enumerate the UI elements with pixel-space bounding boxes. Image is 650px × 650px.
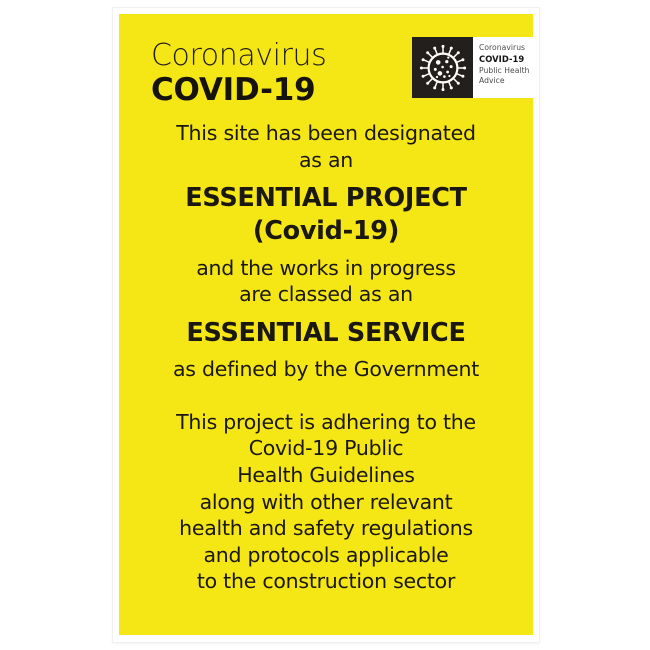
- coronavirus-virus-icon: [418, 43, 468, 93]
- body-line-essential-service: ESSENTIAL SERVICE: [119, 317, 533, 350]
- wordmark-covid19-text: COVID-19: [151, 73, 326, 107]
- body-line-covid19-parenthetical: (Covid-19): [119, 215, 533, 248]
- spacer: [119, 308, 533, 317]
- text-block-essential-project: ESSENTIAL PROJECT (Covid-19): [119, 182, 533, 248]
- screenshot-canvas: Coronavirus COVID-19: [0, 0, 650, 650]
- coronavirus-covid19-wordmark: Coronavirus COVID-19: [151, 40, 326, 107]
- logo-line-public-health: Public Health: [479, 66, 529, 77]
- body-line-adherence-5: health and safety regulations: [119, 515, 533, 542]
- text-block-works-in-progress: and the works in progress are classed as…: [119, 255, 533, 308]
- body-line-adherence-2: Covid-19 Public: [119, 435, 533, 462]
- text-block-government: as defined by the Government: [119, 356, 533, 383]
- spacer: [119, 383, 533, 409]
- logo-line-covid19: COVID-19: [479, 54, 529, 66]
- body-line-adherence-4: along with other relevant: [119, 489, 533, 516]
- public-health-advice-logo: Coronavirus COVID-19 Public Health Advic…: [412, 37, 533, 98]
- body-line-essential-project: ESSENTIAL PROJECT: [119, 182, 533, 215]
- logo-line-coronavirus: Coronavirus: [479, 43, 529, 54]
- body-line-designated-1: This site has been designated: [119, 120, 533, 147]
- spacer: [119, 173, 533, 182]
- body-line-works-1: and the works in progress: [119, 255, 533, 282]
- poster-body-text: This site has been designated as an ESSE…: [119, 120, 533, 595]
- body-line-adherence-7: to the construction sector: [119, 568, 533, 595]
- text-block-designated: This site has been designated as an: [119, 120, 533, 173]
- text-block-adherence: This project is adhering to the Covid-19…: [119, 409, 533, 595]
- text-block-essential-service: ESSENTIAL SERVICE: [119, 317, 533, 350]
- body-line-government: as defined by the Government: [119, 356, 533, 383]
- logo-line-advice: Advice: [479, 76, 529, 87]
- virus-icon-panel: [412, 37, 473, 98]
- wordmark-coronavirus-text: Coronavirus: [151, 40, 326, 72]
- logo-text-panel: Coronavirus COVID-19 Public Health Advic…: [473, 37, 533, 98]
- body-line-works-2: are classed as an: [119, 281, 533, 308]
- poster-header: Coronavirus COVID-19: [119, 14, 533, 118]
- body-line-designated-2: as an: [119, 147, 533, 174]
- body-line-adherence-3: Health Guidelines: [119, 462, 533, 489]
- body-line-adherence-6: and protocols applicable: [119, 542, 533, 569]
- covid-essential-project-poster: Coronavirus COVID-19: [119, 14, 533, 635]
- body-line-adherence-1: This project is adhering to the: [119, 409, 533, 436]
